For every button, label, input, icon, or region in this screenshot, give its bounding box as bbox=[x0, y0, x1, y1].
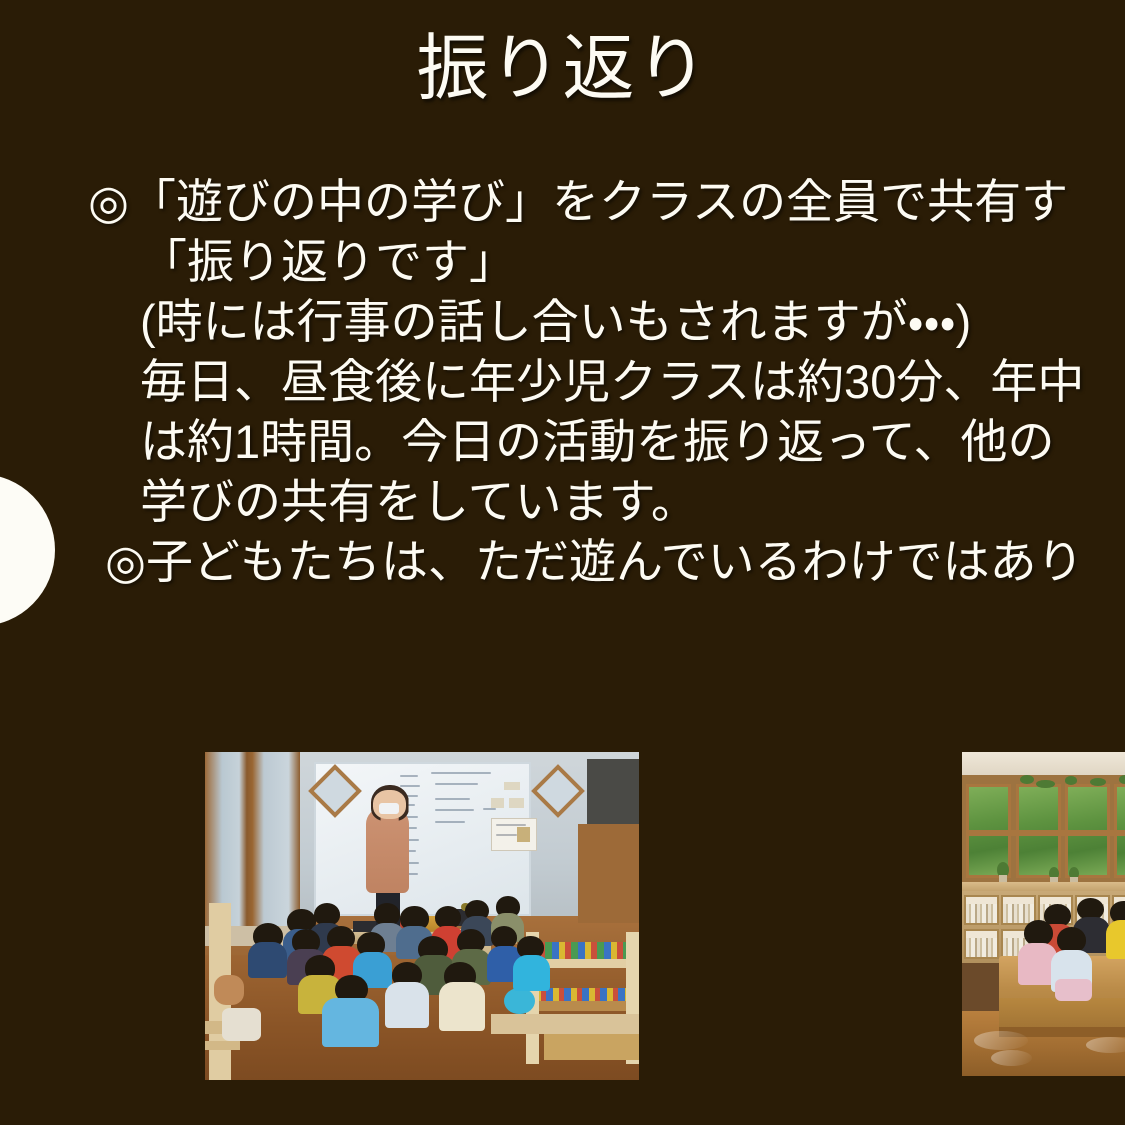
classroom-group-reflection-photo bbox=[205, 752, 639, 1080]
decorative-circle bbox=[0, 474, 55, 626]
page-title: 振り返り bbox=[0, 28, 1125, 111]
body-line: は約1時間。今日の活動を振り返って、他の bbox=[88, 412, 1125, 472]
presentation-slide: 振り返り ◎「遊びの中の学び」をクラスの全員で共有す 「振り返りです」 (時には… bbox=[0, 0, 1125, 1125]
body-line: ◎「遊びの中の学び」をクラスの全員で共有す bbox=[88, 172, 1125, 232]
body-line: 「振り返りです」 bbox=[88, 232, 1125, 292]
body-line: ◎子どもたちは、ただ遊んでいるわけではあり bbox=[88, 532, 1125, 592]
body-line: 学びの共有をしています。 bbox=[88, 472, 1125, 532]
body-line: (時には行事の話し合いもされますが・・・) bbox=[88, 292, 1125, 352]
library-platform-photo bbox=[962, 752, 1125, 1076]
body-text-block: ◎「遊びの中の学び」をクラスの全員で共有す 「振り返りです」 (時には行事の話し… bbox=[88, 172, 1125, 592]
body-line: 毎日、昼食後に年少児クラスは約30分、年中 bbox=[88, 352, 1125, 412]
